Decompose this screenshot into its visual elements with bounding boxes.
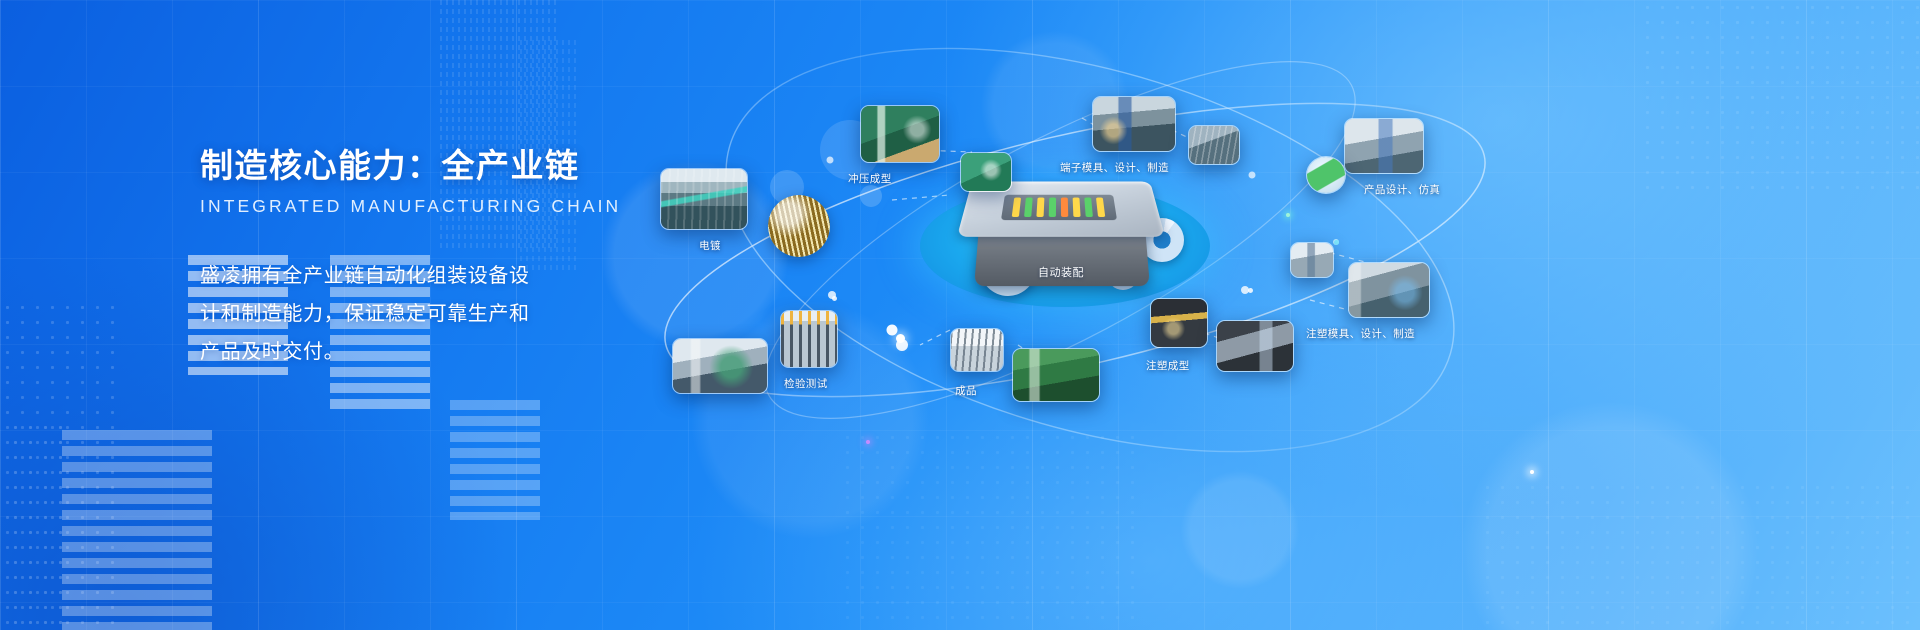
banner-copy: 制造核心能力：全产业链 INTEGRATED MANUFACTURING CHA…	[200, 146, 620, 371]
node-label: 电镀	[699, 238, 721, 253]
node-label: 端子模具、设计、制造	[1060, 160, 1169, 175]
dot-matrix-left	[0, 300, 120, 630]
node-label: 冲压成型	[848, 171, 892, 186]
node-photo	[660, 168, 748, 230]
node-photo	[1188, 125, 1240, 165]
node-terminal-mold[interactable]: 端子模具、设计、制造	[1092, 96, 1176, 152]
orbit-marker-small	[832, 296, 837, 301]
node-photo	[860, 105, 940, 163]
body-line: 产品及时交付。	[200, 333, 620, 371]
node-label: 产品设计、仿真	[1364, 182, 1440, 197]
node-injection-mold[interactable]: 注塑模具、设计、制造	[1348, 262, 1430, 318]
node-injection-molding[interactable]: 注塑成型	[1150, 298, 1208, 348]
body-paragraph: 盛凌拥有全产业链自动化组装设备设 计和制造能力，保证稳定可靠生产和 产品及时交付…	[200, 257, 620, 371]
node-photo	[1348, 262, 1430, 318]
node-photo	[950, 328, 1004, 372]
node-photo	[1150, 298, 1208, 348]
node-photo	[1344, 118, 1424, 174]
node-label: 注塑成型	[1146, 358, 1190, 373]
node-photo	[1012, 348, 1100, 402]
node-label: 成品	[955, 383, 977, 398]
node-inspection-test[interactable]: 检验测试	[780, 310, 838, 368]
body-line: 盛凌拥有全产业链自动化组装设备设	[200, 257, 620, 295]
coil-decoration	[768, 195, 830, 257]
page-title: 制造核心能力：全产业链	[200, 146, 620, 186]
node-photo	[1290, 242, 1334, 278]
orbit-marker	[896, 334, 905, 343]
dot-matrix-far-left	[8, 420, 68, 630]
node-photo	[1092, 96, 1176, 152]
node-photo	[672, 338, 768, 394]
node-photo	[780, 310, 838, 368]
node-label: 检验测试	[784, 376, 828, 391]
model-image	[1306, 156, 1346, 194]
orbit-marker-small	[1248, 288, 1253, 293]
node-finished-product-secondary	[1012, 348, 1100, 402]
hub-label: 自动装配	[1038, 264, 1084, 280]
machine-cavity	[1001, 195, 1117, 220]
node-finished-product[interactable]: 成品	[950, 328, 1004, 372]
node-photo	[1216, 320, 1294, 372]
orbit-marker-small	[1334, 240, 1339, 245]
node-photo	[960, 152, 1012, 192]
body-line: 计和制造能力，保证稳定可靠生产和	[200, 295, 620, 333]
node-electroplating[interactable]: 电镀	[660, 168, 748, 230]
node-stamping-secondary	[960, 152, 1012, 192]
page-subtitle: INTEGRATED MANUFACTURING CHAIN	[200, 196, 620, 217]
banner-stage: 制造核心能力：全产业链 INTEGRATED MANUFACTURING CHA…	[0, 0, 1920, 630]
node-injection-molding-secondary	[1216, 320, 1294, 372]
node-label: 注塑模具、设计、制造	[1306, 326, 1415, 341]
node-terminal-mold-secondary	[1188, 125, 1240, 165]
manufacturing-chain-diagram: 自动装配 电镀 冲压成型	[620, 0, 1920, 630]
node-injection-mold-secondary	[1290, 242, 1334, 278]
tile-block-c	[62, 430, 212, 630]
node-product-design-model	[1306, 156, 1346, 194]
node-inspection-secondary	[672, 338, 768, 394]
coil-image	[768, 195, 830, 257]
tile-block-d	[450, 400, 540, 520]
node-stamping[interactable]: 冲压成型	[860, 105, 940, 163]
node-product-design[interactable]: 产品设计、仿真	[1344, 118, 1424, 174]
